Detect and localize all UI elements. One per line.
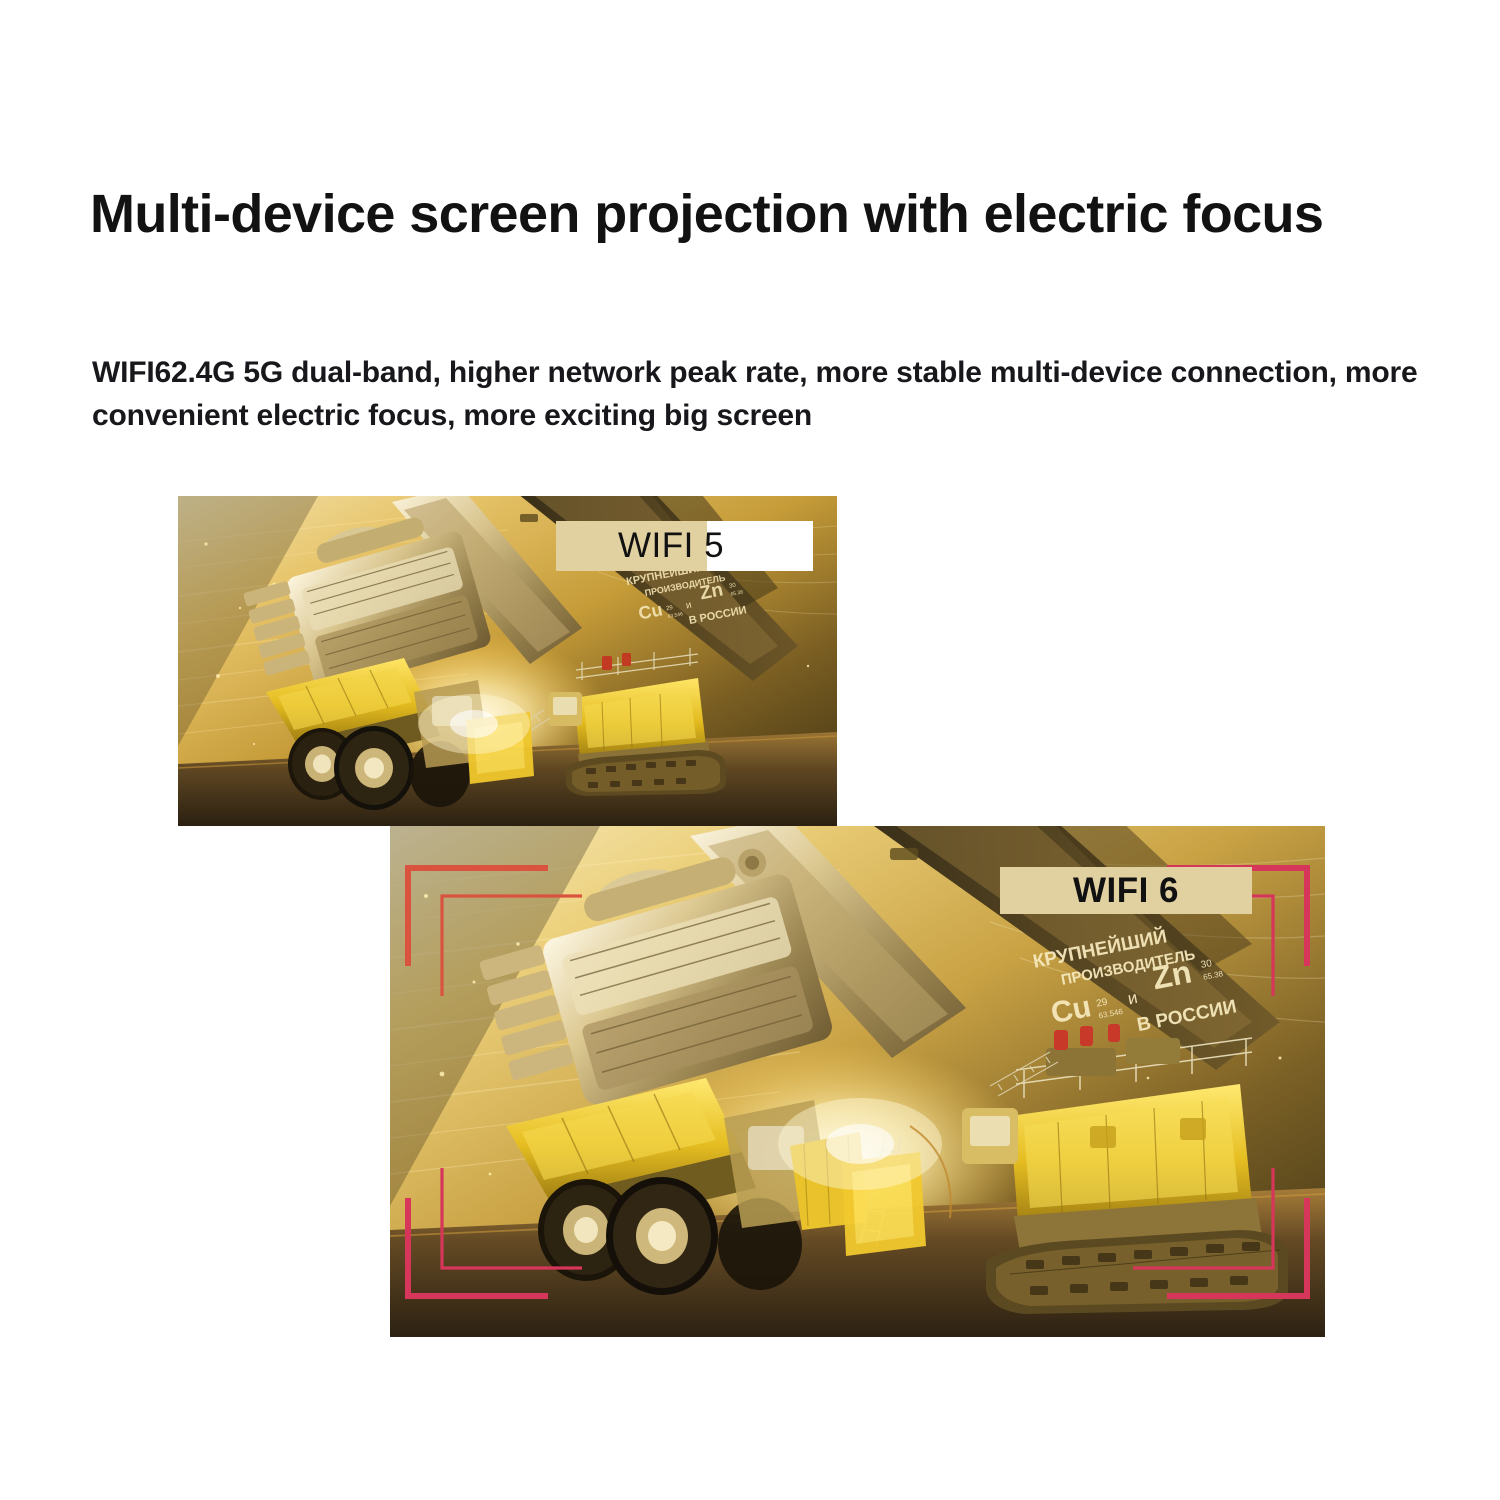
page-title: Multi-device screen projection with elec…: [90, 183, 1360, 247]
page-subtitle: WIFI62.4G 5G dual-band, higher network p…: [92, 352, 1422, 437]
wifi6-badge: WIFI 6: [1000, 867, 1252, 914]
svg-text:Zn: Zn: [698, 579, 725, 604]
svg-text:Zn: Zn: [1149, 953, 1194, 996]
wifi5-badge: WIFI 5: [556, 521, 813, 571]
product-feature-page: Multi-device screen projection with elec…: [0, 0, 1500, 1500]
